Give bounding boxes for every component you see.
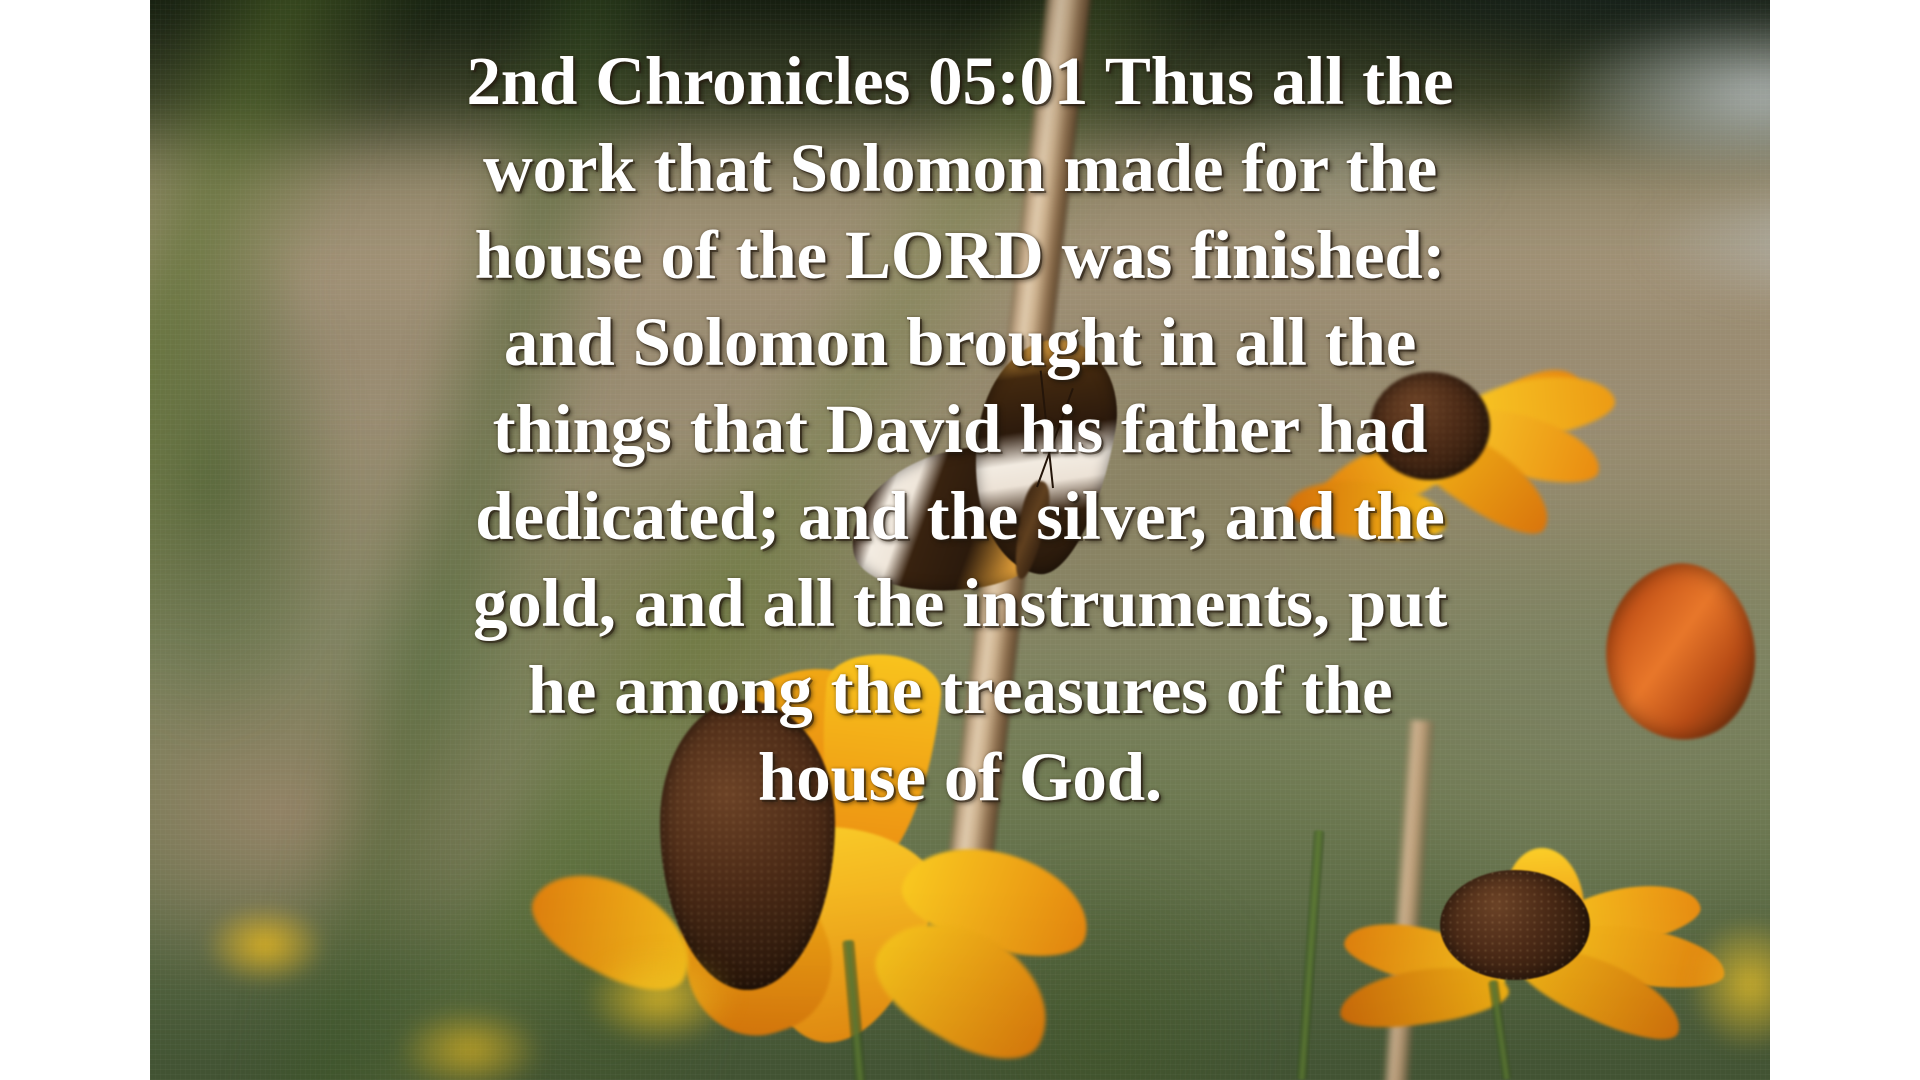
verse-line: dedicated; and the silver, and the [370,473,1550,560]
verse-line: things that David his father had [370,386,1550,473]
verse-line: and Solomon brought in all the [370,299,1550,386]
verse-line: house of the LORD was finished: [370,212,1550,299]
page-margin-right [1770,0,1920,1080]
page-margin-left [0,0,150,1080]
verse-line: house of God. [370,734,1550,821]
verse-overlay: 2nd Chronicles 05:01 Thus all thework th… [150,0,1770,1080]
verse-line: 2nd Chronicles 05:01 Thus all the [370,38,1550,125]
verse-line: work that Solomon made for the [370,125,1550,212]
verse-line: he among the treasures of the [370,647,1550,734]
verse-text: 2nd Chronicles 05:01 Thus all thework th… [370,38,1550,821]
verse-line: gold, and all the instruments, put [370,560,1550,647]
verse-slide: 2nd Chronicles 05:01 Thus all thework th… [0,0,1920,1080]
